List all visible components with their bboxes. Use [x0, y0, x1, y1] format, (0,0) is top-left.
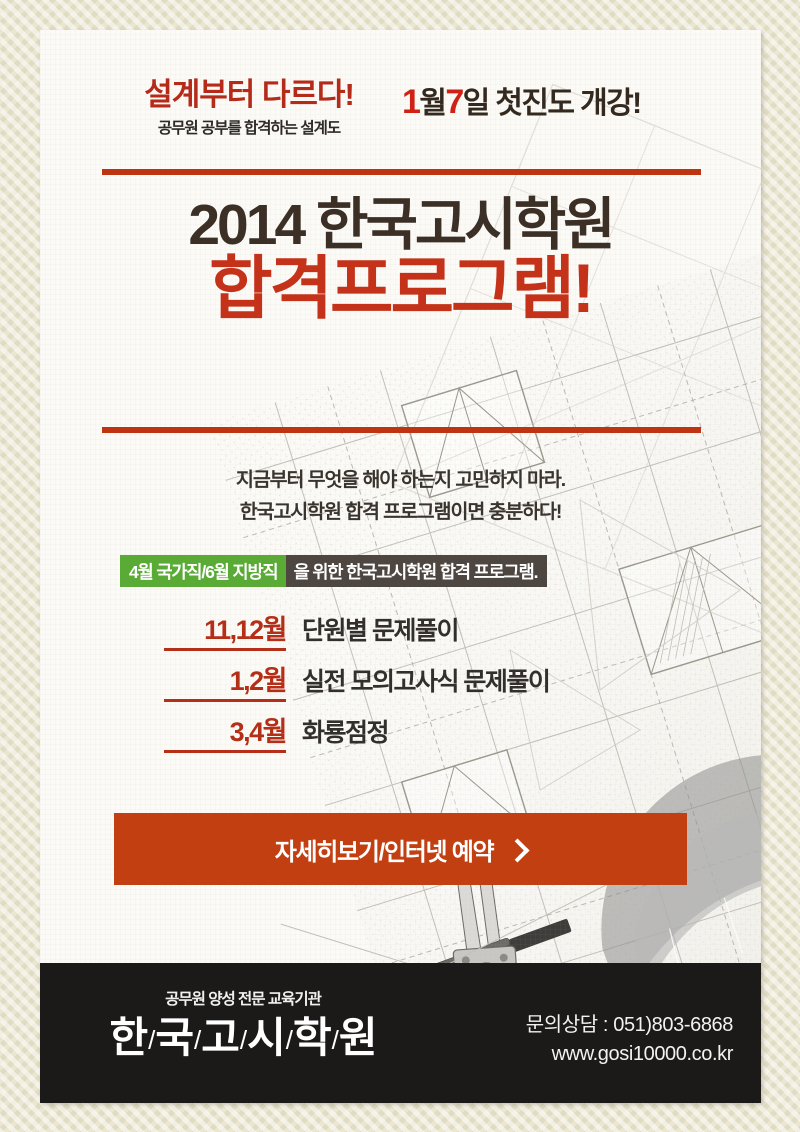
schedule-row: 11,12월 단원별 문제풀이	[40, 608, 761, 651]
details-reservation-button[interactable]: 자세히보기/인터넷 예약	[114, 813, 687, 885]
footer-logo-separator: /	[331, 1025, 339, 1055]
slogan-main-text: 설계부터 다르다!	[118, 78, 380, 112]
divider-rule-top	[102, 169, 701, 175]
hero-title-line2: 합격프로그램!	[40, 253, 761, 325]
open-date-month-unit: 월	[419, 87, 445, 120]
cta-button-label: 자세히보기/인터넷 예약	[275, 832, 494, 867]
schedule-month: 3,4월	[164, 710, 286, 753]
footer-website[interactable]: www.gosi10000.co.kr	[526, 1040, 733, 1069]
slogan-sub-text: 공무원 공부를 합격하는 설계도	[118, 116, 380, 138]
banner-panel: 설계부터 다르다! 공무원 공부를 합격하는 설계도 1월7일 첫진도 개강! …	[40, 30, 761, 1103]
highlight-dark-segment: 을 위한 한국고시학원 합격 프로그램.	[286, 555, 548, 587]
promo-banner: 설계부터 다르다! 공무원 공부를 합격하는 설계도 1월7일 첫진도 개강! …	[0, 0, 800, 1132]
lead-paragraph: 지금부터 무엇을 해야 하는지 고민하지 마라. 한국고시학원 합격 프로그램이…	[40, 465, 761, 528]
footer-logo-separator: /	[239, 1025, 247, 1055]
chevron-right-icon	[506, 838, 530, 862]
footer-logo: 한/국/고/시/학/원	[78, 1015, 408, 1060]
highlight-green-segment: 4월 국가직/6월 지방직	[120, 555, 286, 587]
lead-line-2: 한국고시학원 합격 프로그램이면 충분하다!	[40, 497, 761, 529]
schedule-month: 1,2월	[164, 659, 286, 702]
schedule-list: 11,12월 단원별 문제풀이 1,2월 실전 모의고사식 문제풀이 3,4월 …	[40, 608, 761, 761]
lead-line-1: 지금부터 무엇을 해야 하는지 고민하지 마라.	[40, 465, 761, 497]
open-date-month-number: 1	[402, 83, 419, 121]
footer-logo-separator: /	[285, 1025, 293, 1055]
footer-logo-char: 국	[155, 1014, 193, 1061]
open-date-rest: 일 첫진도 개강!	[463, 87, 641, 120]
footer-tagline: 공무원 양성 전문 교육기관	[78, 987, 408, 1009]
header-row: 설계부터 다르다! 공무원 공부를 합격하는 설계도 1월7일 첫진도 개강!	[40, 78, 761, 170]
open-date-day-number: 7	[445, 83, 462, 121]
hero-title-line1: 2014 한국고시학원	[40, 195, 761, 255]
footer-brand-block: 공무원 양성 전문 교육기관 한/국/고/시/학/원	[78, 987, 408, 1060]
schedule-row: 1,2월 실전 모의고사식 문제풀이	[40, 659, 761, 702]
hero-title: 2014 한국고시학원 합격프로그램!	[40, 195, 761, 325]
open-date-text: 1월7일 첫진도 개강!	[402, 84, 641, 121]
divider-rule-bottom	[102, 427, 701, 433]
schedule-label: 화룡점정	[302, 713, 388, 749]
footer-logo-char: 원	[339, 1014, 377, 1061]
footer-logo-char: 한	[109, 1014, 147, 1061]
schedule-label: 실전 모의고사식 문제풀이	[302, 662, 549, 698]
schedule-row: 3,4월 화룡점정	[40, 710, 761, 753]
footer-contact-block: 문의상담 : 051)803-6868 www.gosi10000.co.kr	[526, 1011, 733, 1069]
schedule-month: 11,12월	[164, 608, 286, 651]
footer-bar: 공무원 양성 전문 교육기관 한/국/고/시/학/원 문의상담 : 051)80…	[40, 963, 761, 1103]
footer-logo-separator: /	[147, 1025, 155, 1055]
footer-logo-char: 고	[201, 1014, 239, 1061]
footer-logo-char: 학	[293, 1014, 331, 1061]
target-highlight-bar: 4월 국가직/6월 지방직 을 위한 한국고시학원 합격 프로그램.	[120, 555, 547, 587]
footer-logo-char: 시	[247, 1014, 285, 1061]
footer-logo-separator: /	[193, 1025, 201, 1055]
footer-phone[interactable]: 문의상담 : 051)803-6868	[526, 1011, 733, 1040]
slogan-block: 설계부터 다르다! 공무원 공부를 합격하는 설계도	[118, 78, 380, 138]
schedule-label: 단원별 문제풀이	[302, 611, 458, 647]
